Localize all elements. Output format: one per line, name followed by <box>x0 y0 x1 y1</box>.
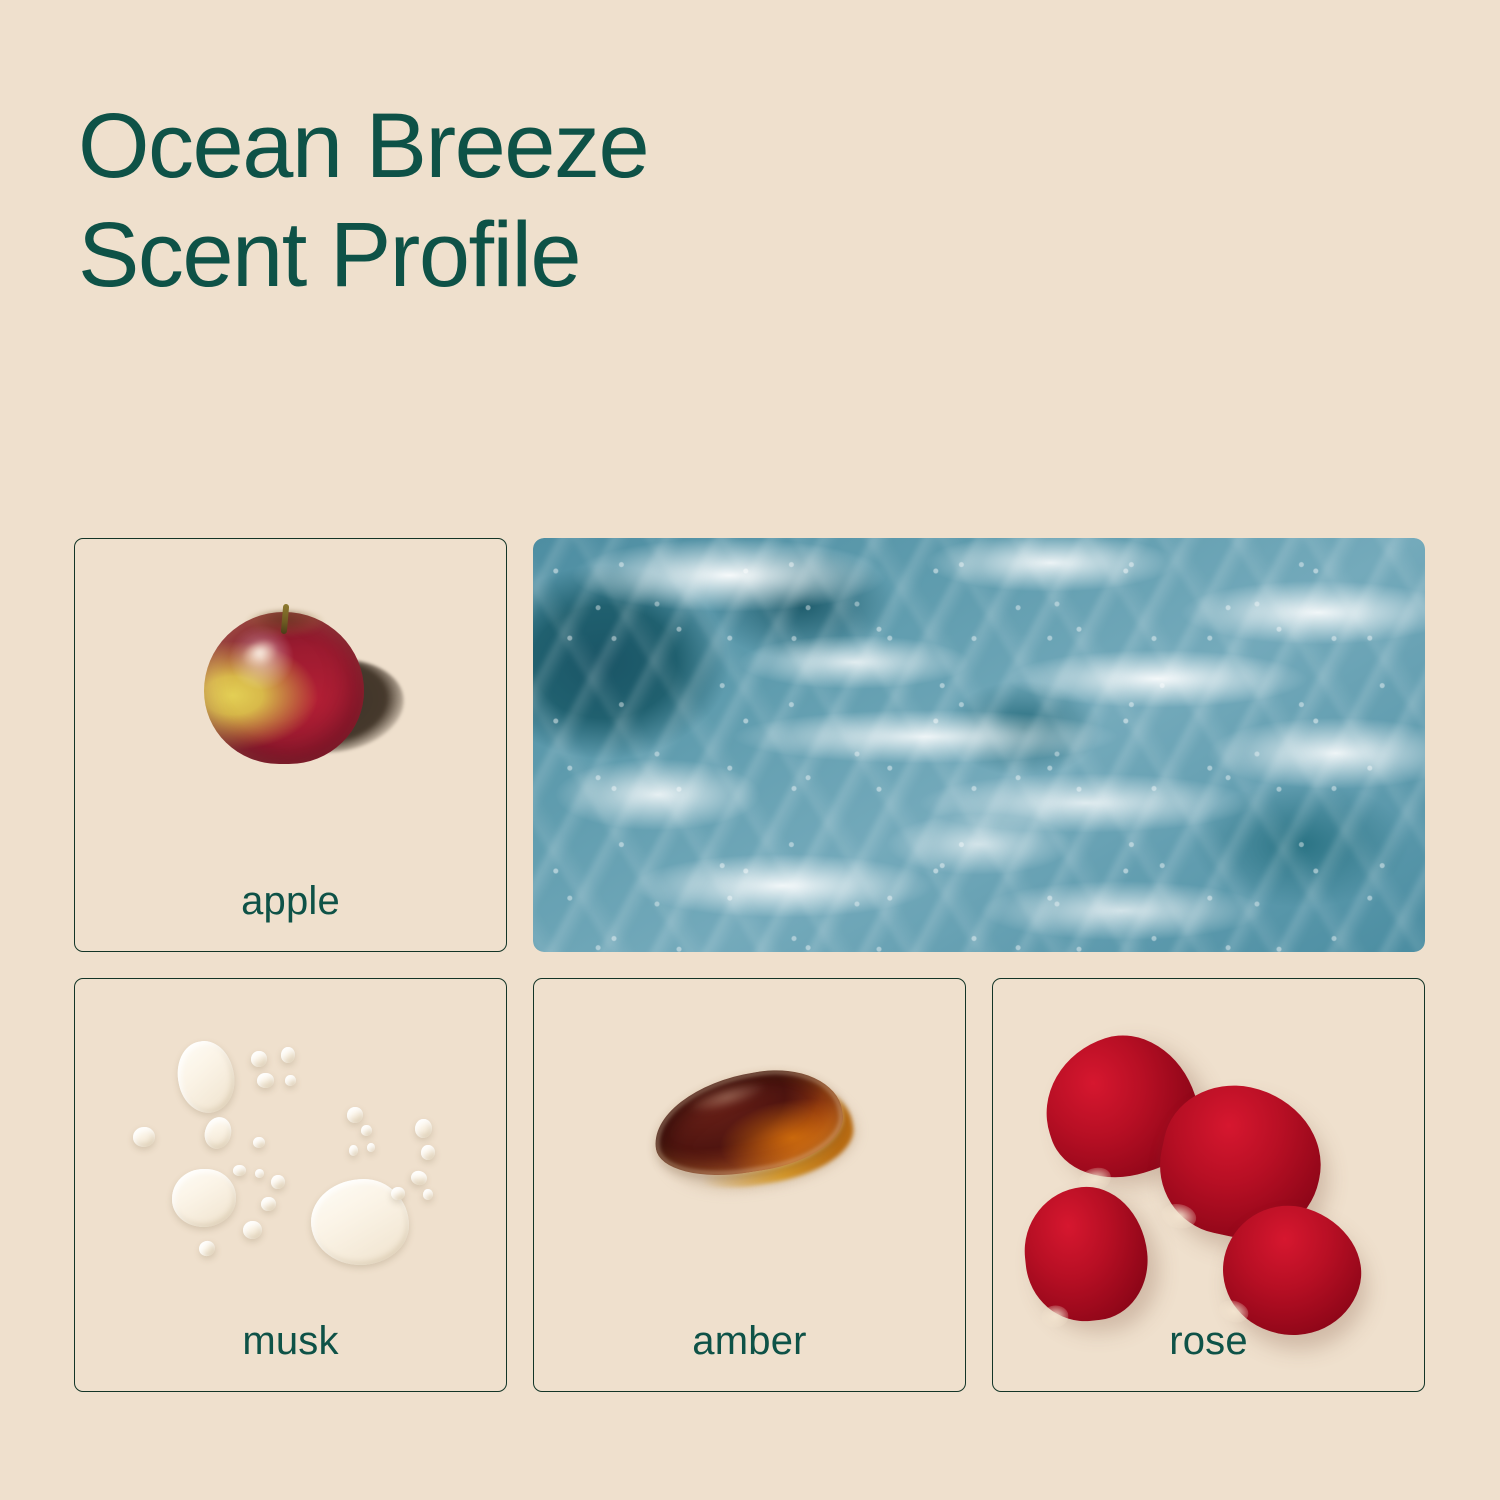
scent-card-apple[interactable]: apple <box>74 538 507 952</box>
droplet <box>171 1036 241 1118</box>
rose-petals-illustration <box>993 979 1424 1305</box>
droplet <box>347 1107 363 1123</box>
hero-image-ocean[interactable] <box>533 538 1425 952</box>
droplet <box>261 1197 276 1211</box>
page-title-line-1: Ocean Breeze <box>78 92 978 201</box>
page-title-line-2: Scent Profile <box>78 201 978 310</box>
droplet <box>281 1047 295 1063</box>
scent-card-label-rose: rose <box>993 1321 1424 1361</box>
droplet <box>253 1137 265 1148</box>
droplet <box>415 1119 432 1138</box>
rose-petals-photo <box>993 979 1424 1305</box>
droplet <box>409 1169 429 1188</box>
scent-card-label-musk: musk <box>75 1321 506 1361</box>
droplet <box>361 1125 372 1136</box>
page-title: Ocean Breeze Scent Profile <box>78 92 978 309</box>
ocean-foam-bubbles <box>533 538 1425 952</box>
droplet <box>391 1187 405 1200</box>
droplets-illustration <box>75 979 506 1305</box>
apple-photo <box>75 539 506 865</box>
droplet <box>421 1145 435 1160</box>
droplet <box>243 1221 262 1239</box>
droplet <box>202 1114 235 1151</box>
droplet <box>172 1169 236 1227</box>
liquid-droplets-photo <box>75 979 506 1305</box>
scent-card-label-apple: apple <box>75 881 506 921</box>
ocean-foam-photo <box>533 538 1425 952</box>
droplet <box>285 1075 296 1086</box>
droplet <box>255 1169 264 1178</box>
apple-illustration <box>186 594 396 784</box>
droplet <box>257 1073 274 1088</box>
droplet <box>197 1239 217 1258</box>
scent-note-grid: apple <box>74 538 1426 1406</box>
scent-card-amber[interactable]: amber <box>533 978 966 1392</box>
droplet <box>367 1143 375 1152</box>
scent-card-musk[interactable]: musk <box>74 978 507 1392</box>
droplet <box>349 1145 358 1156</box>
droplet <box>233 1165 246 1176</box>
amber-resin-photo <box>534 979 965 1305</box>
droplet <box>133 1127 155 1147</box>
scent-card-rose[interactable]: rose <box>992 978 1425 1392</box>
droplet <box>423 1189 433 1200</box>
scent-card-label-amber: amber <box>534 1321 965 1361</box>
amber-illustration <box>635 1062 865 1202</box>
droplet <box>271 1175 285 1189</box>
droplet <box>251 1051 267 1067</box>
rose-petal <box>1018 1181 1153 1327</box>
